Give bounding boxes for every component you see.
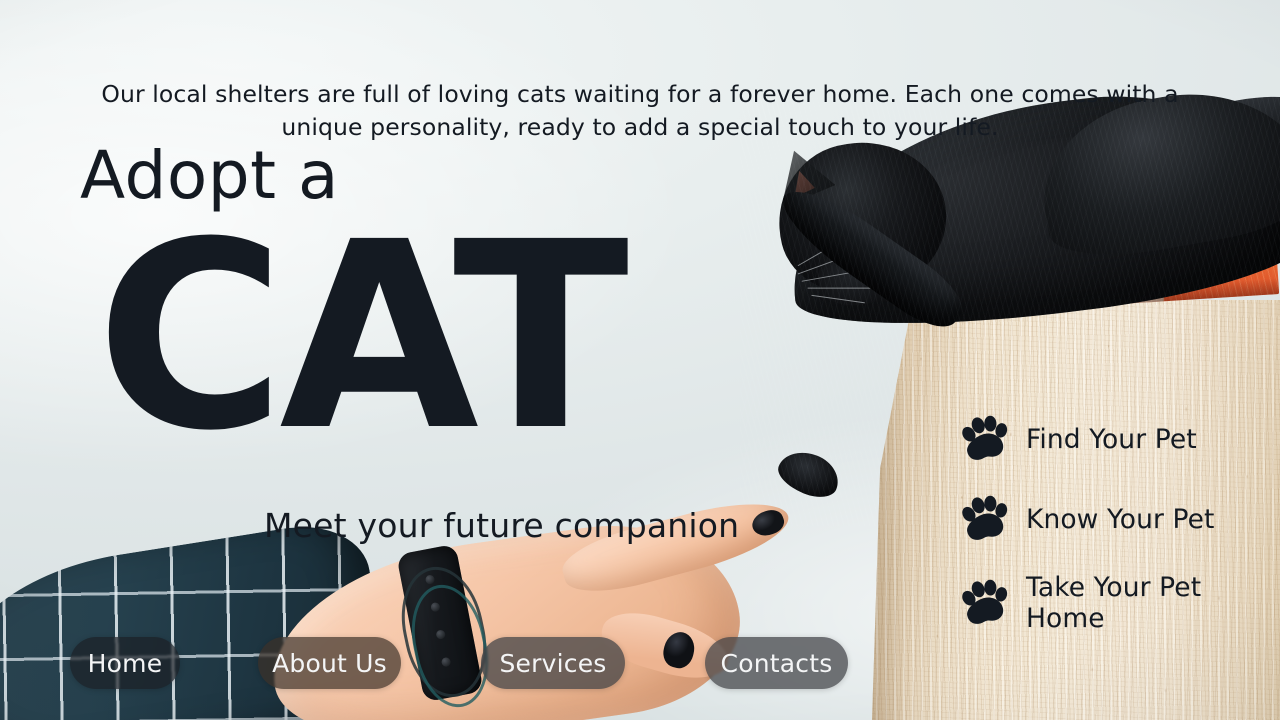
paw-print-icon — [958, 576, 1012, 630]
nav-item-home[interactable]: Home — [70, 637, 180, 689]
intro-paragraph: Our local shelters are full of loving ca… — [80, 78, 1200, 144]
nav-item-about-us[interactable]: About Us — [258, 637, 401, 689]
feature-item-take-your-pet-home[interactable]: Take Your Pet Home — [958, 572, 1258, 634]
paw-print-icon — [958, 492, 1012, 546]
paw-print-icon — [958, 412, 1012, 466]
nav-item-contacts[interactable]: Contacts — [705, 637, 848, 689]
feature-item-know-your-pet[interactable]: Know Your Pet — [958, 492, 1258, 546]
cat-front-paw — [773, 444, 845, 504]
feature-label: Take Your Pet Home — [1026, 572, 1258, 634]
hero-slide: Our local shelters are full of loving ca… — [0, 0, 1280, 720]
feature-list: Find Your Pet Know Your Pet — [958, 412, 1258, 634]
feature-label: Know Your Pet — [1026, 504, 1215, 535]
nav-item-services[interactable]: Services — [481, 637, 625, 689]
headline-big: CAT — [96, 208, 623, 466]
tagline: Meet your future companion — [264, 506, 739, 546]
feature-label: Find Your Pet — [1026, 424, 1197, 455]
feature-item-find-your-pet[interactable]: Find Your Pet — [958, 412, 1258, 466]
